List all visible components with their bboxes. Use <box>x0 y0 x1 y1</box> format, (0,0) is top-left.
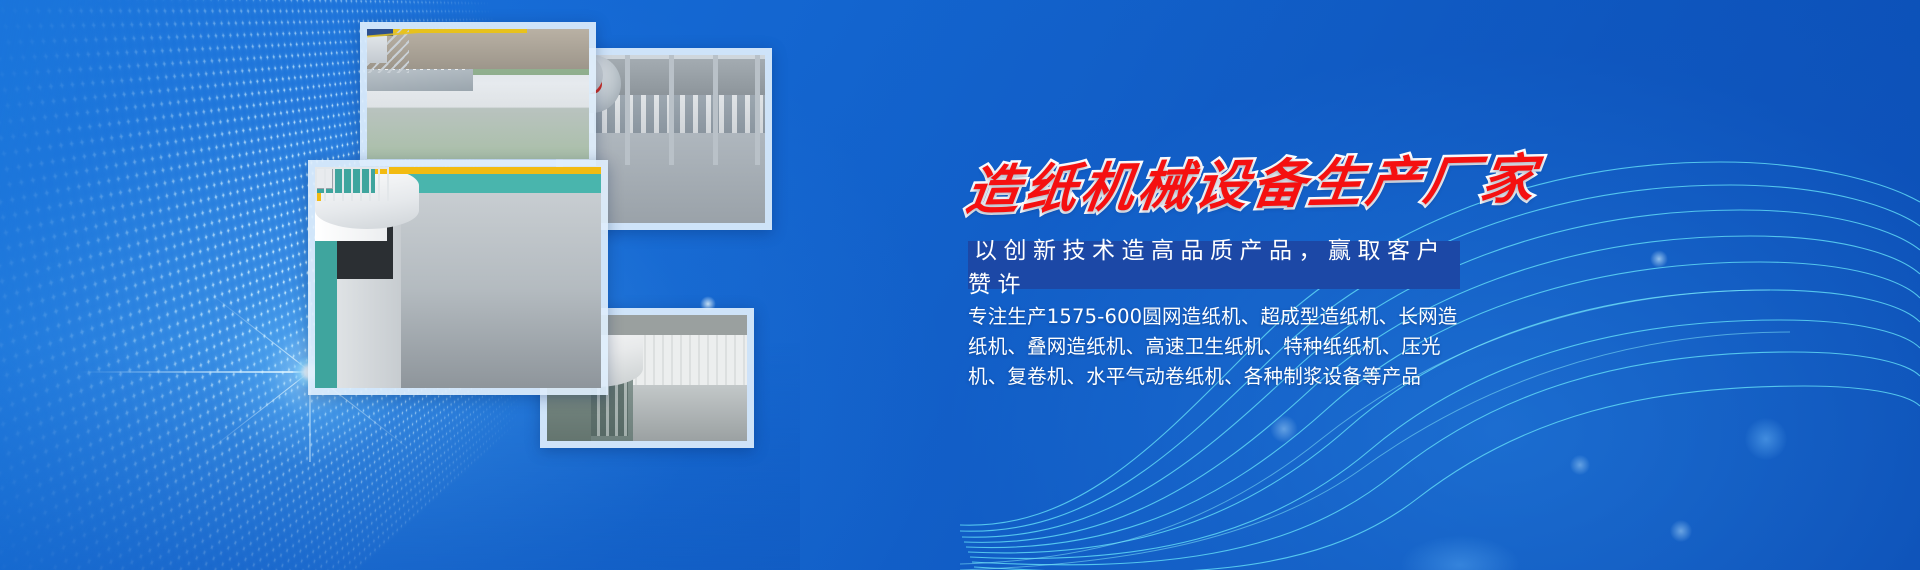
gallery-photo-main-paper-machine[interactable] <box>308 160 608 395</box>
banner-subtitle-text: 以创新技术造高品质产品，赢取客户赞许 <box>968 241 1460 289</box>
banner-headline: 造纸机械设备生产厂家 <box>968 143 1608 209</box>
gallery-photo-paper-machine-hall[interactable] <box>360 22 596 166</box>
banner-subtitle-bar: 以创新技术造高品质产品，赢取客户赞许 <box>968 241 1460 289</box>
banner-headline-text: 造纸机械设备生产厂家 <box>962 137 1544 225</box>
hero-banner: 造纸机械设备生产厂家 以创新技术造高品质产品，赢取客户赞许 专注生产1575-6… <box>0 0 1920 570</box>
banner-description: 专注生产1575-600圆网造纸机、超成型造纸机、长网造纸机、叠网造纸机、高速卫… <box>968 302 1470 392</box>
